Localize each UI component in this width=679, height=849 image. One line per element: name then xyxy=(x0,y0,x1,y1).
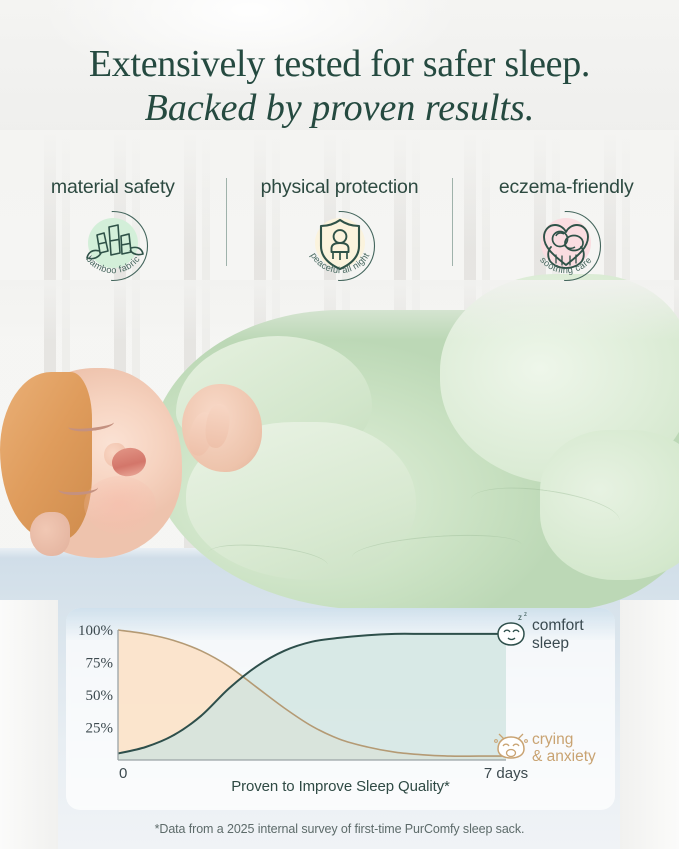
sleeping-baby-face-icon: z z xyxy=(498,612,527,645)
badge-title: material safety xyxy=(0,176,226,199)
svg-text:peaceful all night: peaceful all night xyxy=(308,251,371,275)
badge-physical-protection[interactable]: physical protection peaceful all night xyxy=(227,176,453,291)
bamboo-fabric-mark: bamboo fabric xyxy=(70,203,156,289)
badge-arc-text: soothing care xyxy=(523,203,609,289)
baby-ear xyxy=(30,512,70,556)
y-tick-100: 100% xyxy=(78,623,113,639)
headline-line-2: Backed by proven results. xyxy=(0,88,679,128)
feature-badges: material safety xyxy=(0,176,679,291)
legend-comfort-line2: sleep xyxy=(532,635,569,652)
crib-post-right xyxy=(620,600,679,849)
sleeping-baby xyxy=(0,300,679,600)
footnote: *Data from a 2025 internal survey of fir… xyxy=(0,822,679,836)
svg-text:z: z xyxy=(524,612,527,618)
headline-line-1: Extensively tested for safer sleep. xyxy=(0,44,679,84)
physical-protection-mark: peaceful all night xyxy=(297,203,383,289)
y-tick-75: 75% xyxy=(86,656,114,672)
svg-text:bamboo fabric: bamboo fabric xyxy=(84,254,142,275)
crib-post-left xyxy=(0,600,58,849)
y-tick-50: 50% xyxy=(86,688,114,704)
chart-caption: Proven to Improve Sleep Quality* xyxy=(66,778,615,795)
badge-arc-text: peaceful all night xyxy=(297,203,383,289)
chart-areas xyxy=(118,630,506,760)
badge-material-safety[interactable]: material safety xyxy=(0,176,226,291)
badge-title: eczema-friendly xyxy=(453,176,679,199)
legend-crying-anxiety: crying & anxiety xyxy=(495,731,596,765)
page-title: Extensively tested for safer sleep. Back… xyxy=(0,44,679,129)
y-tick-25: 25% xyxy=(86,721,114,737)
svg-text:soothing care: soothing care xyxy=(538,255,594,275)
badge-arc-label: peaceful all night xyxy=(308,251,371,275)
badge-arc-label: soothing care xyxy=(538,255,594,275)
legend-crying-line1: crying xyxy=(532,731,573,748)
badge-arc-text: bamboo fabric xyxy=(70,203,156,289)
svg-text:z: z xyxy=(518,613,522,622)
legend-crying-line2: & anxiety xyxy=(532,748,596,765)
badge-arc-label: bamboo fabric xyxy=(84,254,142,275)
badge-title: physical protection xyxy=(227,176,453,199)
soothing-care-mark: soothing care xyxy=(523,203,609,289)
legend-comfort-sleep: z z comfort sleep xyxy=(498,612,584,652)
legend-comfort-line1: comfort xyxy=(532,617,584,634)
badge-eczema-friendly[interactable]: eczema-friendly soothing care xyxy=(453,176,679,291)
